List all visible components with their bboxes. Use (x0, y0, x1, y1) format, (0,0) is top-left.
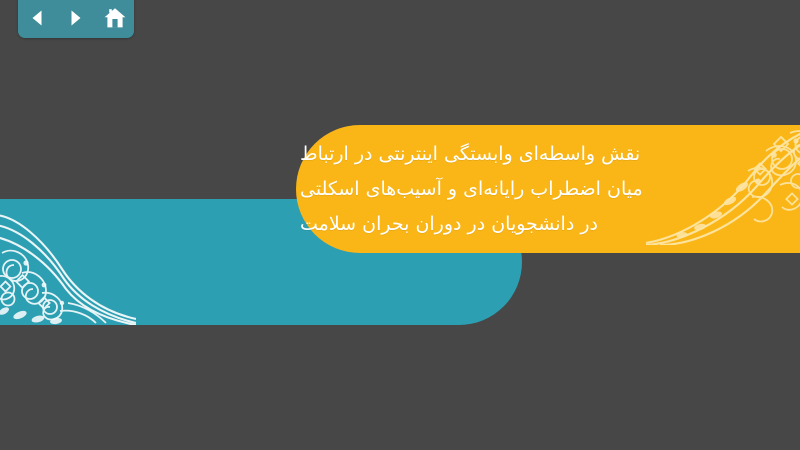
home-icon (103, 6, 127, 30)
previous-slide-icon (26, 7, 48, 29)
presentation-slide: نقش واسطه‌ای وابستگی اینترنتی در ارتباط … (0, 0, 800, 450)
arabesque-ornament-icon (646, 125, 800, 245)
arabesque-ornament-icon (0, 207, 136, 325)
next-slide-icon (65, 7, 87, 29)
slide-navigation-bar (18, 0, 134, 38)
orange-title-band (296, 125, 800, 253)
previous-slide-button[interactable] (24, 5, 50, 31)
next-slide-button[interactable] (63, 5, 89, 31)
home-button[interactable] (102, 5, 128, 31)
